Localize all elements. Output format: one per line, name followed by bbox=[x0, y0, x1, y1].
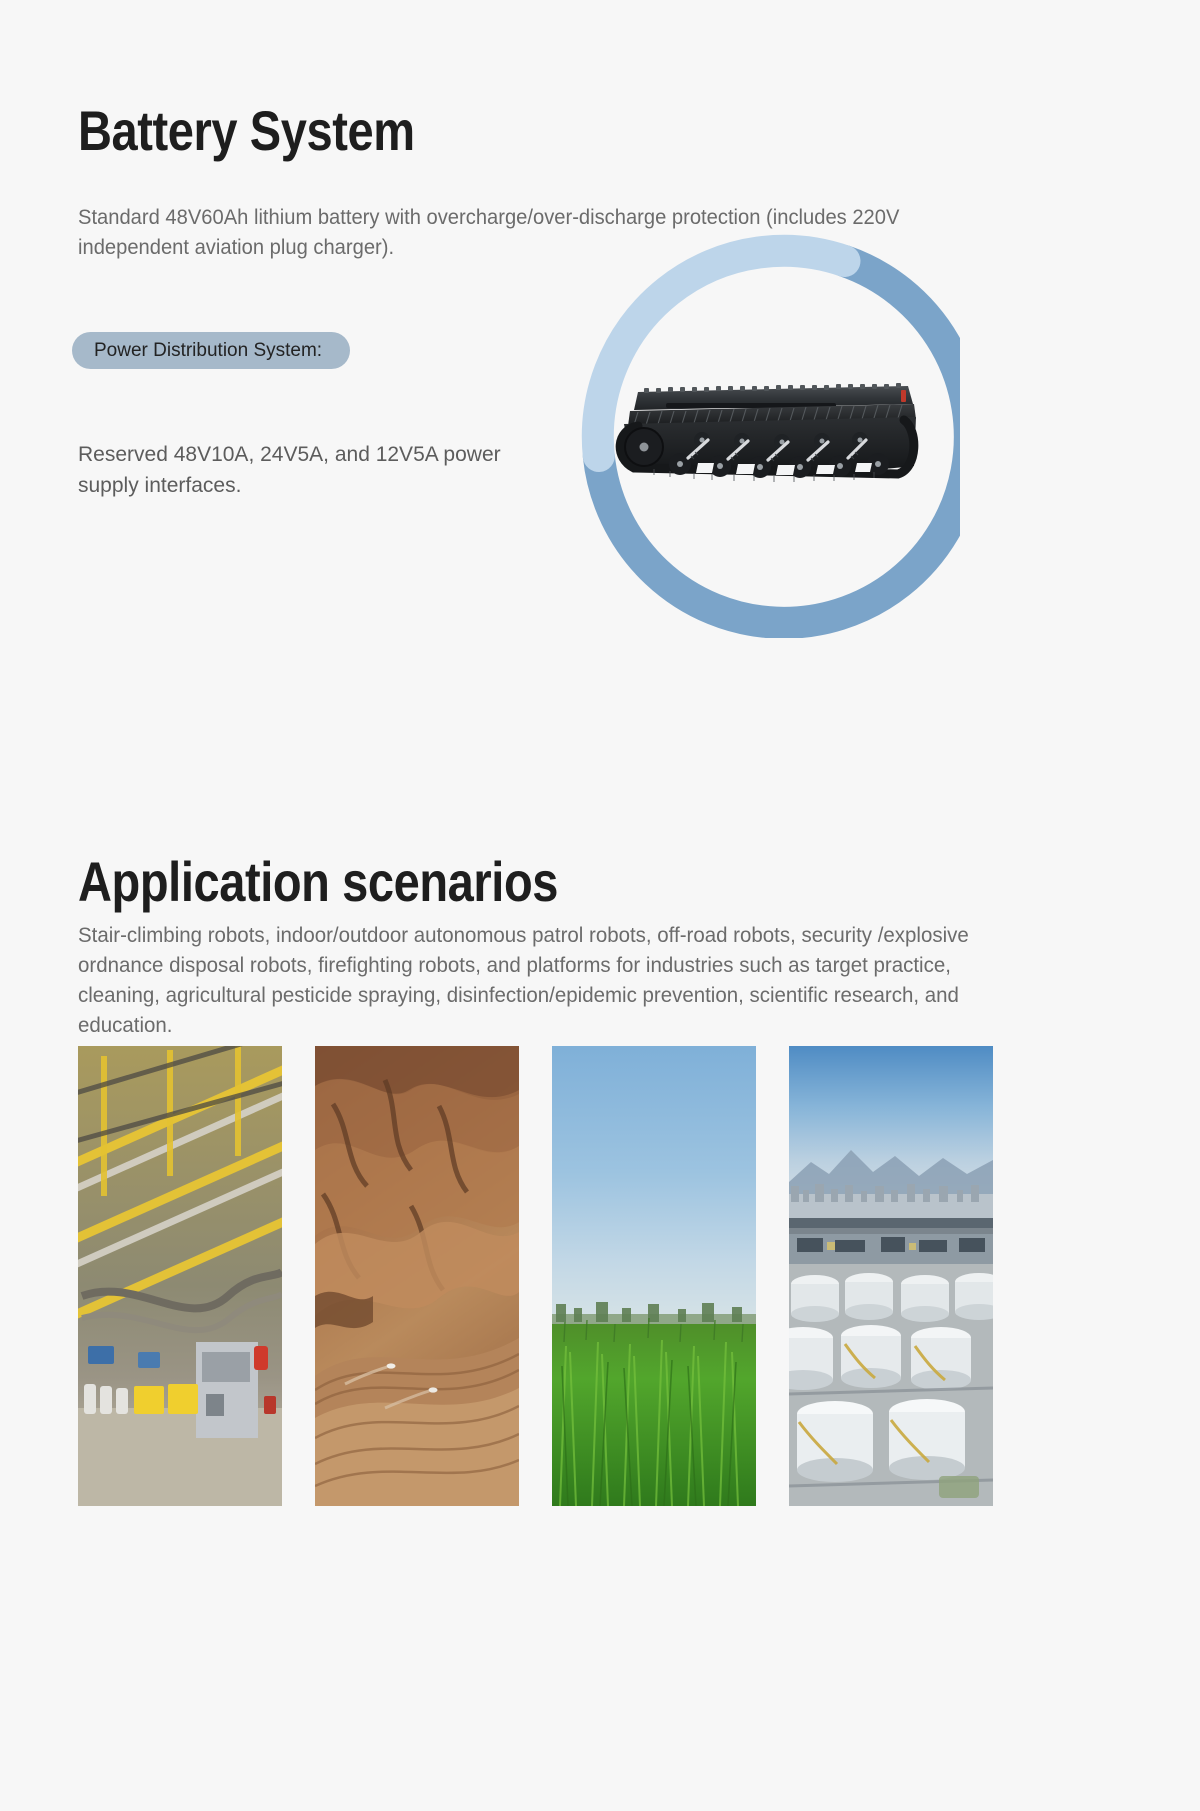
application-scenarios-paragraph: Stair-climbing robots, indoor/outdoor au… bbox=[78, 921, 990, 1041]
factory-interior-photo bbox=[78, 1046, 282, 1506]
application-gallery bbox=[78, 1046, 1122, 1506]
battery-system-section: Battery System Standard 48V60Ah lithium … bbox=[0, 0, 1200, 760]
battery-system-title: Battery System bbox=[78, 100, 415, 162]
application-scenarios-section: Application scenarios Stair-climbing rob… bbox=[0, 760, 1200, 1811]
oil-tank-farm-photo bbox=[789, 1046, 993, 1506]
desert-canyon-aerial-photo bbox=[315, 1046, 519, 1506]
product-spec-page: Battery System Standard 48V60Ah lithium … bbox=[0, 0, 1200, 1811]
power-distribution-badge-label: Power Distribution System: bbox=[94, 341, 322, 360]
tracked-robot-chassis-image bbox=[608, 370, 920, 500]
power-interfaces-paragraph: Reserved 48V10A, 24V5A, and 12V5A power … bbox=[78, 439, 548, 501]
application-scenarios-title: Application scenarios bbox=[78, 851, 558, 913]
power-distribution-badge: Power Distribution System: bbox=[72, 332, 350, 369]
green-field-photo bbox=[552, 1046, 756, 1506]
